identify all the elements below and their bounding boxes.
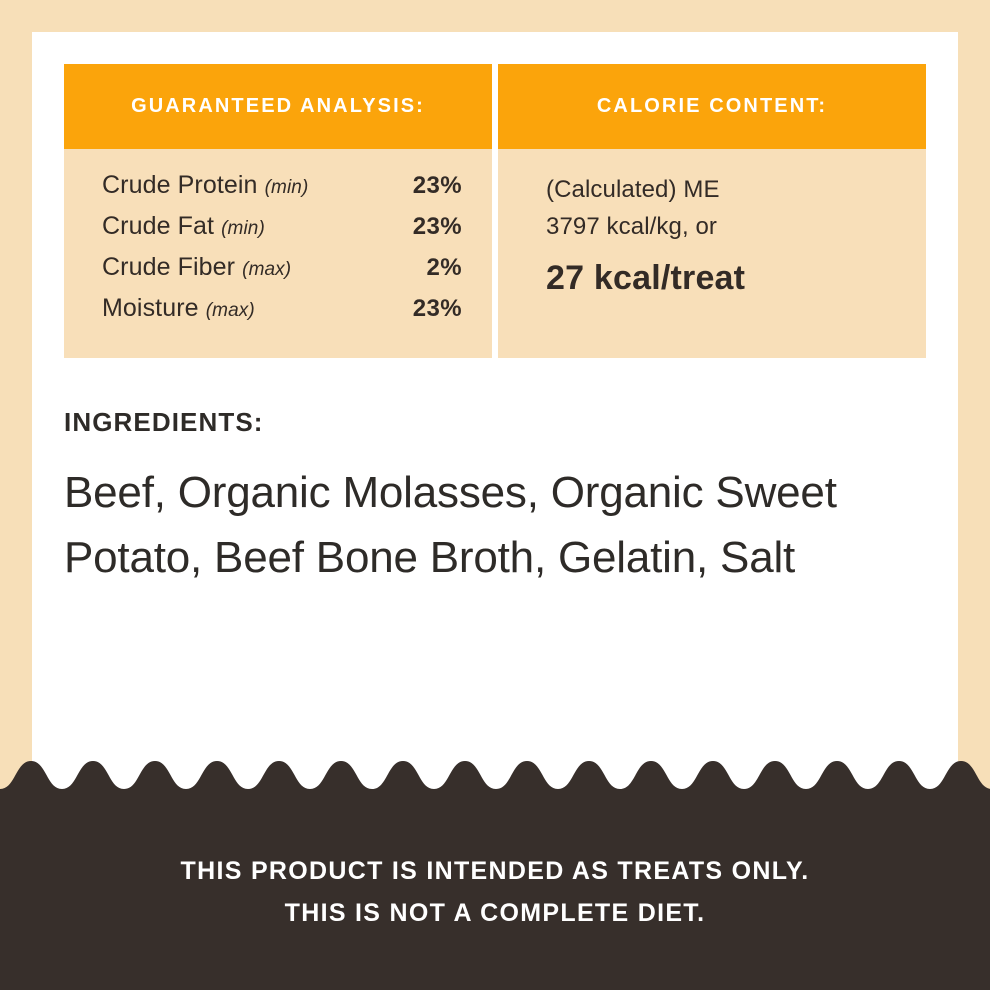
calorie-kcal-per-kg: 3797 kcal/kg, or [546,208,896,245]
footer-disclaimer: THIS PRODUCT IS INTENDED AS TREATS ONLY.… [0,850,990,934]
analysis-qualifier: (max) [242,259,291,280]
analysis-row-label: Crude Protein (min) [102,171,308,200]
analysis-nutrient-name: Moisture [102,294,199,322]
calorie-content-body: (Calculated) ME 3797 kcal/kg, or 27 kcal… [498,149,926,358]
analysis-qualifier: (min) [221,218,265,239]
analysis-nutrient-name: Crude Fiber [102,253,235,281]
analysis-nutrient-name: Crude Protein [102,171,258,199]
analysis-value: 23% [390,295,462,323]
calorie-per-treat: 27 kcal/treat [546,259,896,298]
analysis-row-label: Crude Fat (min) [102,212,265,241]
analysis-value: 23% [390,172,462,200]
footer-disclaimer-line2: THIS IS NOT A COMPLETE DIET. [0,892,990,934]
analysis-nutrient-name: Crude Fat [102,212,214,240]
analysis-row-label: Crude Fiber (max) [102,253,291,282]
calorie-calculated-me: (Calculated) ME [546,171,896,208]
footer-banner: THIS PRODUCT IS INTENDED AS TREATS ONLY.… [0,755,990,990]
analysis-qualifier: (min) [265,177,309,198]
ingredients-list: Beef, Organic Molasses, Organic Sweet Po… [64,460,854,590]
guaranteed-analysis-header: GUARANTEED ANALYSIS: [64,64,492,149]
nutrition-cards: GUARANTEED ANALYSIS: Crude Protein (min)… [64,64,926,358]
ingredients-section: INGREDIENTS: Beef, Organic Molasses, Org… [64,407,924,590]
analysis-row-label: Moisture (max) [102,294,255,323]
analysis-qualifier: (max) [206,300,255,321]
analysis-row: Crude Protein (min) 23% [102,171,462,208]
analysis-row: Crude Fiber (max) 2% [102,253,462,290]
guaranteed-analysis-card: GUARANTEED ANALYSIS: Crude Protein (min)… [64,64,492,358]
calorie-content-header: CALORIE CONTENT: [498,64,926,149]
wavy-divider-icon [0,755,990,811]
analysis-row: Crude Fat (min) 23% [102,212,462,249]
analysis-value: 23% [390,213,462,241]
analysis-row: Moisture (max) 23% [102,294,462,331]
footer-disclaimer-line1: THIS PRODUCT IS INTENDED AS TREATS ONLY. [0,850,990,892]
analysis-value: 2% [390,254,462,282]
ingredients-title: INGREDIENTS: [64,407,924,438]
calorie-content-card: CALORIE CONTENT: (Calculated) ME 3797 kc… [498,64,926,358]
guaranteed-analysis-body: Crude Protein (min) 23% Crude Fat (min) … [64,149,492,358]
